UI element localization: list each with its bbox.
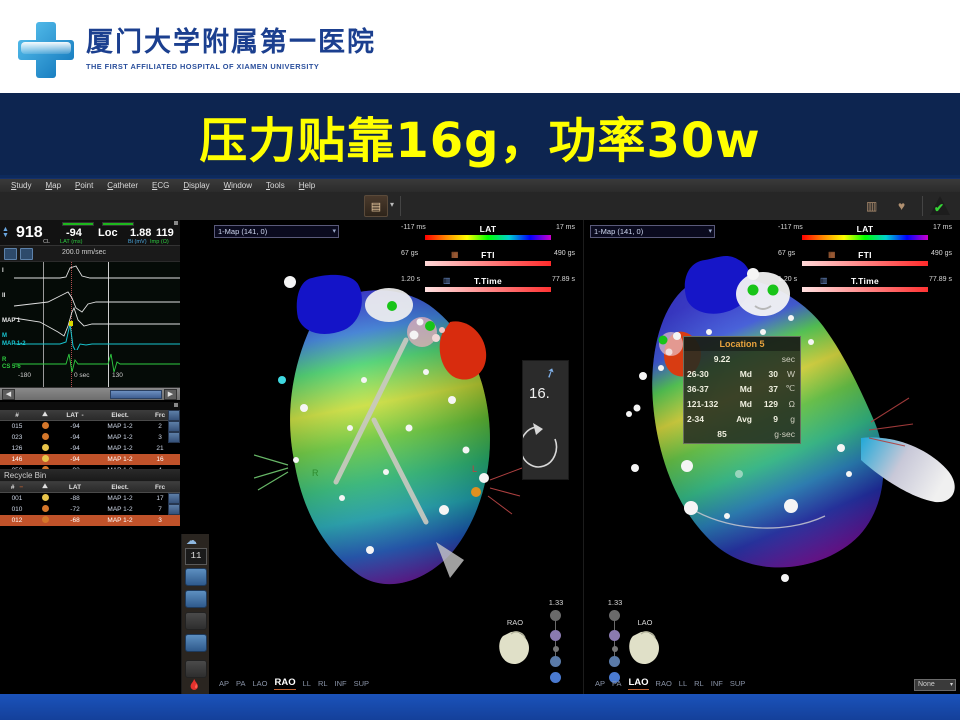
location-title: Location 5: [684, 337, 800, 351]
lat-name: LAT: [399, 224, 577, 234]
points-table-header: # ⛰ LAT- Elect. Frc: [0, 410, 180, 421]
measurement-value: 9: [752, 414, 778, 424]
measurement-unit: g: [778, 414, 798, 424]
orient-ap[interactable]: AP: [219, 679, 229, 688]
measurement-value: 37: [752, 384, 778, 394]
bipolar-label: Bi (mV): [128, 239, 147, 245]
cell-lat: -94: [56, 423, 94, 430]
medical-cross-icon: [18, 22, 74, 78]
measurement-range: 36-37: [684, 384, 720, 394]
none-selector[interactable]: None ▾: [914, 679, 956, 691]
menu-item-window[interactable]: Window: [217, 181, 259, 190]
sweep-speed-label: 200.0 mm/sec: [62, 249, 106, 256]
time-mark-start: -180: [18, 372, 31, 379]
menu-item-point[interactable]: Point: [68, 181, 100, 190]
map-view-left[interactable]: 1-Map (141, 0) ▾ -117 ms LAT 17 ms 67 gs…: [209, 220, 584, 694]
orientation-thumbnail-right[interactable]: LAO: [623, 618, 667, 670]
orient-rao-r[interactable]: RAO: [656, 679, 672, 688]
cell-tag-icon: [34, 494, 56, 503]
menu-item-display[interactable]: Display: [176, 181, 216, 190]
loc-label: Loc: [98, 227, 118, 239]
measurement-value: 30: [752, 369, 778, 379]
cycle-length-label: CL: [43, 239, 50, 245]
orient-ll-r[interactable]: LL: [679, 679, 687, 688]
table-row[interactable]: 012-68MAP 1-23: [0, 515, 180, 526]
legend-row-lat-r: -117 ms LAT 17 ms: [776, 224, 954, 250]
time-mark-end: 130: [112, 372, 123, 379]
location-duration-row: 9.22 sec: [684, 351, 800, 366]
paint-tool-icon[interactable]: [185, 634, 207, 652]
measurement-range: 121-132: [684, 399, 720, 409]
rotation-value: 16.: [529, 385, 550, 402]
cell-tag-icon: [34, 455, 56, 464]
table-row[interactable]: 126-94MAP 1-221: [0, 443, 180, 454]
measurement-range: 2-34: [684, 414, 720, 424]
points-scroll-up-button[interactable]: [168, 410, 180, 421]
orient-inf[interactable]: INF: [335, 679, 347, 688]
rotate-cursor-icon: ➚: [542, 363, 559, 382]
toolbar: ▤ ▾ ▥ ♥ ✔: [0, 192, 960, 220]
impedance-label: Imp (Ω): [150, 239, 169, 245]
orient-ap-r[interactable]: AP: [595, 679, 605, 688]
table-row[interactable]: 015-94MAP 1-22: [0, 421, 180, 432]
measurement-unit: W: [778, 369, 798, 379]
fti-name: FTI: [399, 250, 577, 260]
cell-tag-icon: [34, 505, 56, 514]
ecg-scrollbar[interactable]: ◀ ▶: [0, 387, 180, 400]
ecg-lower-strip: R CS 5-6 -180 0 sec 130: [0, 350, 180, 387]
cell-number: 023: [0, 434, 34, 441]
zoom-node-r1[interactable]: [609, 610, 620, 621]
slide-logo-band: 厦门大学附属第一医院 THE FIRST AFFILIATED HOSPITAL…: [0, 0, 960, 93]
zoom-node-3[interactable]: [553, 646, 559, 652]
recycle-bin-header: # − ⛰ LAT Elect. Frc: [0, 482, 180, 493]
snapshot-button[interactable]: ▤: [364, 195, 388, 217]
col-lat[interactable]: LAT-: [56, 412, 94, 419]
measurement-stat: Md: [720, 384, 752, 394]
recycle-scroll-up-button[interactable]: [168, 493, 180, 504]
measurement-unit: ℃: [778, 383, 798, 394]
scroll-left-icon[interactable]: ◀: [2, 389, 15, 400]
ecg-settings-button[interactable]: [20, 248, 33, 260]
lead-label-cs56: CS 5-6: [2, 364, 21, 370]
table-row[interactable]: 146-94MAP 1-216: [0, 454, 180, 465]
scroll-right-icon[interactable]: ▶: [164, 389, 177, 400]
cell-frc: 16: [146, 456, 174, 463]
anatomical-map-mesh-left[interactable]: R L: [254, 260, 534, 590]
measurement-range: 26-30: [684, 369, 720, 379]
recycle-bin-rows: 001-88MAP 1-217010-72MAP 1-27012-68MAP 1…: [0, 493, 180, 526]
recycle-bin-table: Recycle Bin # − ⛰ LAT Elect. Frc 001-88M…: [0, 469, 180, 526]
palette-count: 11: [185, 548, 207, 565]
cell-number: 010: [0, 506, 34, 513]
none-selector-value: None: [918, 681, 935, 688]
location-rows: 26-30Md30W36-37Md37℃121-132Md129Ω2-34Avg…: [684, 366, 800, 426]
zoom-node-5[interactable]: [550, 672, 561, 683]
points-rows: 015-94MAP 1-22023-94MAP 1-23126-94MAP 1-…: [0, 421, 180, 476]
table-row[interactable]: 010-72MAP 1-27: [0, 504, 180, 515]
menu-item-help[interactable]: Help: [292, 181, 322, 190]
carto-application-window: StudyMapPointCatheterECGDisplayWindowToo…: [0, 178, 960, 694]
chevron-down-icon[interactable]: ▾: [390, 200, 394, 209]
map-selector-left[interactable]: 1-Map (141, 0) ▾: [214, 225, 339, 238]
measurement-unit: Ω: [778, 399, 798, 409]
col-tag-icon[interactable]: ⛰: [34, 411, 56, 419]
location-measurement-row: 121-132Md129Ω: [684, 396, 800, 411]
hospital-name-cn: 厦门大学附属第一医院: [86, 29, 376, 57]
cell-elect: MAP 1-2: [94, 445, 146, 452]
lat-colorbar-r: [802, 235, 928, 240]
chevron-down-icon: ▾: [950, 681, 953, 688]
location-info-panel[interactable]: Location 5 9.22 sec 26-30Md30W36-37Md37℃…: [683, 336, 801, 444]
lat-colorbar: [425, 235, 551, 240]
table-row[interactable]: 001-88MAP 1-217: [0, 493, 180, 504]
spinner-icon[interactable]: ▲▼: [2, 227, 9, 239]
impedance-value: 119: [156, 227, 174, 239]
table-row[interactable]: 023-94MAP 1-23: [0, 432, 180, 443]
location-fti: 85: [685, 429, 759, 439]
menu-item-tools[interactable]: Tools: [259, 181, 292, 190]
pointer-icon[interactable]: ☁: [186, 534, 197, 547]
cell-number: 012: [0, 517, 34, 524]
svg-text:L: L: [472, 464, 477, 474]
bipolar-value: 1.88: [130, 227, 151, 239]
measurement-stat: Md: [720, 399, 752, 409]
location-measurement-row: 26-30Md30W: [684, 366, 800, 381]
cell-tag-icon: [34, 422, 56, 431]
green-check-triangle-icon: ✔: [934, 201, 944, 215]
cell-tag-icon: [34, 433, 56, 442]
location-measurement-row: 36-37Md37℃: [684, 381, 800, 396]
lat-max-r: 17 ms: [933, 224, 952, 231]
points-table: # ⛰ LAT- Elect. Frc 015-94MAP 1-22023-94…: [0, 402, 180, 476]
zoom-node-r4[interactable]: [609, 656, 620, 667]
ttime-max: 77.89 s: [552, 276, 575, 283]
rb-col-frc[interactable]: Frc: [146, 484, 174, 491]
rb-col-elect[interactable]: Elect.: [94, 484, 146, 491]
lead-label-ii: II: [2, 293, 5, 299]
cell-elect: MAP 1-2: [94, 434, 146, 441]
measurement-stat: Md: [720, 369, 752, 379]
recycle-bin-title: Recycle Bin: [0, 469, 180, 482]
zoom-value-left: 1.33: [541, 598, 571, 607]
col-number[interactable]: #: [0, 412, 34, 419]
orient-rl-r[interactable]: RL: [694, 679, 704, 688]
measurement-stat: Avg: [720, 414, 752, 424]
ecg-header: ▲▼ 918 CL -94 LAT (ms) Loc 1.88 Bi (mV) …: [0, 220, 180, 246]
cell-frc: 21: [146, 445, 174, 452]
cell-elect: MAP 1-2: [94, 517, 146, 524]
col-elect[interactable]: Elect.: [94, 412, 146, 419]
tool-palette: ☁ 11 🩸: [181, 534, 209, 694]
location-fti-unit: g·sec: [759, 429, 799, 439]
cell-tag-icon: [34, 444, 56, 453]
measure-tool-icon[interactable]: [185, 568, 207, 586]
orient-lao-r[interactable]: LAO: [628, 677, 648, 690]
measurement-value: 129: [752, 399, 778, 409]
map-selector-right[interactable]: 1-Map (141, 0) ▾: [590, 225, 715, 238]
cell-elect: MAP 1-2: [94, 423, 146, 430]
cell-elect: MAP 1-2: [94, 495, 146, 502]
menu-item-map[interactable]: Map: [38, 181, 68, 190]
rotation-widget[interactable]: ➚ 16.: [522, 360, 569, 480]
lat-label: LAT (ms): [60, 239, 82, 245]
cell-lat: -88: [56, 495, 94, 502]
thumbnail-label-right: LAO: [623, 618, 667, 627]
time-mark-zero: 0 sec: [74, 372, 90, 379]
orient-ll[interactable]: LL: [303, 679, 311, 688]
orientation-bar-right: AP PA LAO RAO LL RL INF SUP: [595, 678, 745, 689]
cell-elect: MAP 1-2: [94, 456, 146, 463]
menu-item-catheter[interactable]: Catheter: [100, 181, 145, 190]
rb-col-number: #: [11, 484, 15, 491]
location-fti-row: 85 g·sec: [684, 426, 800, 441]
orient-pa-r[interactable]: PA: [612, 679, 621, 688]
cycle-length-value: 918: [16, 224, 43, 242]
orient-lao[interactable]: LAO: [252, 679, 267, 688]
cell-lat: -72: [56, 506, 94, 513]
orient-sup-r[interactable]: SUP: [730, 679, 745, 688]
zoom-node-2[interactable]: [550, 630, 561, 641]
map-icon[interactable]: ▥: [866, 199, 877, 213]
zoom-node-4[interactable]: [550, 656, 561, 667]
points-table-region: # ⛰ LAT- Elect. Frc 015-94MAP 1-22023-94…: [0, 402, 180, 540]
menu-bar: StudyMapPointCatheterECGDisplayWindowToo…: [0, 178, 960, 192]
cell-lat: -94: [56, 434, 94, 441]
orient-inf-r[interactable]: INF: [711, 679, 723, 688]
lead-label-i: I: [2, 268, 4, 274]
orient-sup[interactable]: SUP: [354, 679, 369, 688]
orientation-thumbnail-left[interactable]: RAO: [493, 618, 537, 670]
cell-frc: 3: [146, 517, 174, 524]
svg-text:R: R: [312, 468, 319, 478]
zoom-node-r2[interactable]: [609, 630, 620, 641]
menu-item-study[interactable]: Study: [4, 181, 38, 190]
hospital-logo: 厦门大学附属第一医院 THE FIRST AFFILIATED HOSPITAL…: [18, 22, 376, 78]
zoom-node-1[interactable]: [550, 610, 561, 621]
cell-lat: -94: [56, 456, 94, 463]
lat-name-r: LAT: [776, 224, 954, 234]
cut-tool-icon[interactable]: [185, 590, 207, 608]
zoom-value-right: 1.33: [600, 598, 630, 607]
lat-value: -94: [66, 227, 82, 239]
scroll-thumb[interactable]: [110, 390, 162, 399]
ecg-panel: ▲▼ 918 CL -94 LAT (ms) Loc 1.88 Bi (mV) …: [0, 220, 180, 694]
thumbnail-label-left: RAO: [493, 618, 537, 627]
orientation-bar-left: AP PA LAO RAO LL RL INF SUP: [219, 678, 369, 689]
erase-tool-icon[interactable]: [185, 660, 207, 678]
map-selector-left-value: 1-Map (141, 0): [218, 227, 267, 236]
orient-rao[interactable]: RAO: [274, 677, 295, 690]
lead-label-map12: MAP 1-2: [2, 341, 26, 347]
map-view-right[interactable]: 1-Map (141, 0) ▾ -117 ms LAT 17 ms 67 gs…: [585, 220, 960, 694]
cell-tag-icon: [34, 516, 56, 525]
cell-number: 146: [0, 456, 34, 463]
catheter-icon[interactable]: 🩸: [188, 680, 200, 691]
table-resize-handle[interactable]: [174, 403, 178, 407]
lead-label-map1: MAP 1: [2, 318, 20, 324]
location-duration-unit: sec: [759, 354, 799, 364]
points-scroll-thumb[interactable]: [168, 421, 180, 432]
heart-icon[interactable]: ♥: [898, 199, 905, 213]
ecg-waveform-button[interactable]: [4, 248, 17, 260]
snapshot-icon: ▤: [365, 196, 387, 218]
cell-number: 126: [0, 445, 34, 452]
location-duration: 9.22: [685, 354, 759, 364]
menu-item-ecg[interactable]: ECG: [145, 181, 176, 190]
fill-tool-icon[interactable]: [185, 612, 207, 630]
slide-title: 压力贴靠16g，功率30w: [0, 101, 960, 171]
map-selector-right-value: 1-Map (141, 0): [594, 227, 643, 236]
cell-lat: -68: [56, 517, 94, 524]
panel-resize-handle[interactable]: [174, 221, 178, 225]
chevron-down-icon: ▾: [332, 227, 336, 235]
points-scroll-down-button[interactable]: [168, 432, 180, 443]
cell-number: 015: [0, 423, 34, 430]
zoom-node-r3[interactable]: [612, 646, 618, 652]
cell-number: 001: [0, 495, 34, 502]
lead-label-r: R: [2, 357, 6, 363]
lat-max: 17 ms: [556, 224, 575, 231]
cell-lat: -94: [56, 445, 94, 452]
rb-col-lat[interactable]: LAT: [56, 484, 94, 491]
rotation-arc-icon: [523, 413, 570, 473]
legend-row-lat: -117 ms LAT 17 ms: [399, 224, 577, 250]
cell-elect: MAP 1-2: [94, 506, 146, 513]
recycle-scroll-down-button[interactable]: [168, 504, 180, 515]
rb-col-tag-icon[interactable]: ⛰: [34, 483, 56, 491]
slide-footer-band: [0, 694, 960, 720]
orient-pa[interactable]: PA: [236, 679, 245, 688]
orient-rl[interactable]: RL: [318, 679, 328, 688]
location-measurement-row: 2-34Avg9g: [684, 411, 800, 426]
hospital-name-en: THE FIRST AFFILIATED HOSPITAL OF XIAMEN …: [86, 62, 376, 71]
chevron-down-icon: ▾: [708, 227, 712, 235]
fti-max: 490 gs: [554, 250, 575, 257]
lead-label-m: M: [2, 333, 7, 339]
